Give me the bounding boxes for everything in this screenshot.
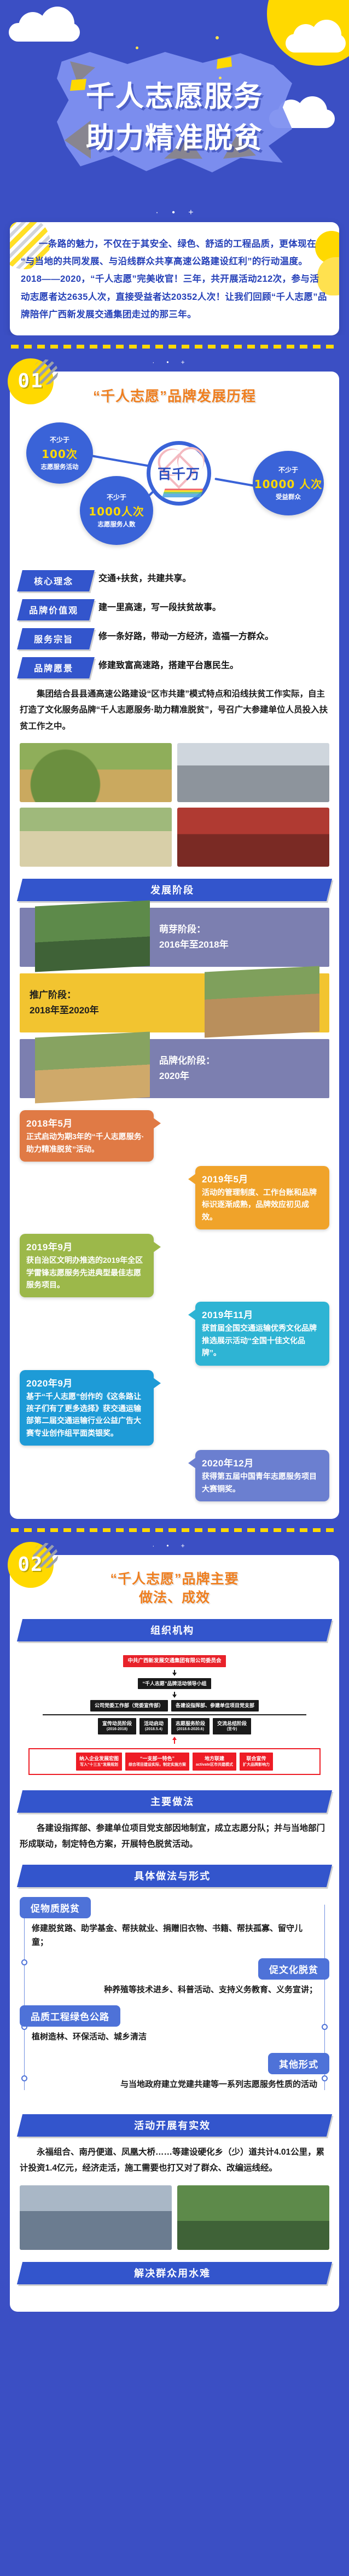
stage-sprout: 萌芽阶段： 2016年至2018年: [20, 908, 329, 967]
form-pill: 促物质脱贫: [20, 1897, 91, 1918]
org-node-branch-units: 各建设指挥部、参建单位项目党支部: [171, 1700, 259, 1711]
water-heading: 解决群众用水难: [20, 2262, 329, 2284]
timeline-desc: 获首届全国交通运输优秀文化品牌推选展示活动“全国十佳文化品牌”。: [202, 1322, 323, 1359]
dot-icon: [136, 47, 138, 49]
ribbon-text: 解决群众用水难: [134, 2266, 211, 2280]
ribbon-label: 品牌价值观: [17, 599, 95, 620]
section-01-number: 01: [8, 358, 54, 404]
stage-period: 2018年至2020年: [30, 1003, 99, 1018]
ribbon-label: 服务宗旨: [17, 628, 95, 649]
ribbon-label: 具体做法与形式: [17, 1865, 332, 1887]
org-row-phases: 宣传动员阶段 (2016-2018) 活动启动 (2018.5.4) 志愿服务阶…: [21, 1718, 328, 1734]
form-body: 种养殖等技术进乡、科普活动、支持义务教育、义务宣讲；: [20, 1983, 329, 1997]
timeline-desc: 正式启动为期3年的“千人志愿服务·助力精准脱贫”活动。: [26, 1130, 147, 1155]
bubble-prefix: 不少于: [50, 435, 69, 444]
mindmap-center-label: 百千万: [158, 463, 200, 483]
brand-row-values: 品牌价值观 建一里高速，写一段扶贫故事。: [20, 599, 329, 620]
intro-paragraph: 一条路的魅力，不仅在于其安全、绿色、舒适的工程品质，更体现在“与当地的共同发展、…: [21, 235, 328, 323]
timeline-item: 2020年9月 基于“千人志愿”创作的《这条路让孩子们有了更多选择》获交通运输部…: [20, 1370, 329, 1446]
results-heading: 活动开展有实效: [20, 2114, 329, 2137]
mindmap-bubble-beneficiaries: 不少于 10000 人次 受益群众: [253, 451, 324, 515]
mindmap-bubble-activities: 不少于 100次 志愿服务活动: [26, 422, 93, 484]
org-node-phase-mobilize: 宣传动员阶段 (2016-2018): [98, 1718, 136, 1734]
ribbon-value: 交通+扶贫，共建共享。: [98, 570, 329, 586]
forms-connector-list: 促物质脱贫 修建脱贫路、助学基金、帮扶就业、捐赠旧衣物、书籍、帮扶孤寡、留守儿童…: [20, 1895, 329, 2103]
stage-title: 推广阶段：: [30, 988, 99, 1003]
star-plus: +: [188, 208, 193, 218]
timeline-bubble-2019-05: 2019年5月 活动的管理制度、工作台账和品牌标识逐渐成熟，品牌效应初见成效。: [195, 1166, 329, 1229]
org-node-phase-service: 志愿服务阶段 (2018.6-2020.6): [171, 1718, 210, 1734]
timeline-desc: 活动的管理制度、工作台账和品牌标识逐渐成熟，品牌效应初见成效。: [202, 1186, 323, 1223]
org-row-top: 中共广西新发展交通集团有限公司委员会: [21, 1655, 328, 1667]
brand-row-vision: 品牌愿景 修建致富高速路，搭建平台惠民生。: [20, 657, 329, 678]
stages-heading: 发展阶段: [20, 879, 329, 901]
org-chart: 中共广西新发展交通集团有限公司委员会 “千人志愿”品牌活动领导小组 公司党委工作…: [20, 1648, 329, 1778]
stage-period: 2016年至2018年: [159, 937, 229, 953]
org-phase-name: 志愿服务阶段: [176, 1721, 205, 1726]
redbox-sub: 综合项目建设实际，制定实施方案: [129, 1762, 186, 1768]
brand-timeline: 2018年5月 正式启动为期3年的“千人志愿服务·助力精准脱贫”活动。 2019…: [20, 1110, 329, 1501]
ribbon-text: 品牌价值观: [29, 603, 78, 616]
page-bottom-spacer: [0, 2312, 349, 2319]
ribbon-label: 发展阶段: [17, 879, 332, 901]
cloud-icon: [9, 23, 80, 42]
timeline-date: 2018年5月: [26, 1116, 147, 1129]
mindmap-center-node: 百千万: [147, 441, 211, 506]
org-connector-arrow-red: [174, 1737, 175, 1744]
bubble-prefix: 不少于: [107, 492, 126, 502]
timeline-bubble-2020-12: 2020年12月 获得第五届中国青年志愿服务项目大赛铜奖。: [195, 1450, 329, 1501]
stage-title: 品牌化阶段：: [159, 1053, 215, 1069]
org-horizontal-bar: [43, 1714, 306, 1715]
dashed-road-divider: [0, 335, 349, 358]
org-connector-arrow: [174, 1670, 175, 1675]
dot-icon: [216, 36, 219, 39]
bubble-value: 10000 人次: [254, 475, 323, 491]
timeline-date: 2019年11月: [202, 1307, 323, 1321]
footer-spacer: [20, 2291, 329, 2299]
mindmap-bubble-volunteers: 不少于 1000人次 志愿服务人数: [80, 476, 153, 545]
timeline-date: 2020年9月: [26, 1376, 147, 1389]
section-02-number: 02: [8, 1542, 54, 1588]
stage-title: 萌芽阶段：: [159, 922, 229, 937]
org-phase-period: (2018.5.4): [144, 1727, 164, 1732]
form-item-other: 其他形式 与当地政府建立党建共建等一系列志愿服务性质的活动: [20, 2053, 329, 2092]
bubble-value: 1000人次: [89, 503, 144, 519]
main-practice-heading: 主要做法: [20, 1790, 329, 1813]
timeline-date: 2019年9月: [26, 1239, 147, 1253]
results-paragraph: 永福组合、南丹便道、凤凰大桥……等建设硬化乡（少）道共计4.01公里，累计投资1…: [20, 2144, 329, 2177]
redbox-sub: 扩大品牌影响力: [243, 1762, 270, 1768]
timeline-item: 2019年11月 获首届全国交通运输优秀文化品牌推选展示活动“全国十佳文化品牌”…: [20, 1302, 329, 1365]
hero-star-decor: · • +: [0, 208, 349, 218]
timeline-bubble-2019-11: 2019年11月 获首届全国交通运输优秀文化品牌推选展示活动“全国十佳文化品牌”…: [195, 1302, 329, 1365]
photo-grid: [20, 743, 329, 867]
star-dot-medium: •: [172, 208, 175, 218]
form-item-green-road: 品质工程绿色公路 植树造林、环保活动、城乡清洁: [20, 2005, 329, 2044]
org-redbox-enterprise-plan: 纳入企业发展宏图 写入“十三五”发展规划: [76, 1753, 122, 1770]
org-node-phase-launch: 活动启动 (2018.5.4): [139, 1718, 168, 1734]
hero-title-line1: 千人志愿服务: [0, 81, 349, 113]
org-phase-name: 活动启动: [144, 1721, 164, 1726]
brand-row-core-concept: 核心理念 交通+扶贫，共建共享。: [20, 570, 329, 591]
cloud-icon: [286, 34, 346, 53]
bubble-caption: 志愿服务活动: [41, 462, 79, 471]
redbox-title: 纳入企业发展宏图: [79, 1756, 119, 1761]
ribbon-label: 品牌愿景: [17, 657, 95, 678]
section-02: 02 “千人志愿”品牌主要 做法、成效 组织机构 中共广西新发展交通集团有限公司…: [10, 1555, 339, 2312]
bubble-prefix: 不少于: [278, 465, 298, 474]
section-01-paragraph: 集团结合县县通高速公路建设“区市共建”模式特点和沿线扶贫工作实际，自主打造了文化…: [20, 686, 329, 734]
photo-mountain-road: [177, 2185, 329, 2250]
ribbon-label: 组织机构: [17, 1619, 332, 1641]
timeline-bubble-2019-09: 2019年9月 获自治区文明办推选的2019年全区学雷锋志愿服务先进典型最佳志愿…: [20, 1234, 154, 1297]
section-02-card: “千人志愿”品牌主要 做法、成效 组织机构 中共广西新发展交通集团有限公司委员会…: [10, 1555, 339, 2312]
form-body: 植树造林、环保活动、城乡清洁: [20, 2030, 329, 2044]
org-redbox-branch-feature: “一支部一特色” 综合项目建设实际，制定实施方案: [125, 1753, 189, 1770]
org-node-publicity-dept: 公司党委工作部（党委宣传部）: [90, 1700, 168, 1711]
form-pill: 促文化脱贫: [258, 1958, 329, 1980]
ribbon-text: 发展阶段: [150, 883, 194, 897]
stage-promotion: 推广阶段： 2018年至2020年: [20, 973, 329, 1032]
ribbon-text: 具体做法与形式: [134, 1869, 211, 1883]
results-photo-grid: [20, 2185, 329, 2250]
ribbon-label: 活动开展有实效: [17, 2114, 332, 2137]
brand-mindmap: 不少于 100次 志愿服务活动 百千万 不少于 10000 人次 受益群众 不少…: [20, 415, 329, 562]
timeline-desc: 获得第五届中国青年志愿服务项目大赛铜奖。: [202, 1470, 323, 1495]
org-node-leading-group: “千人志愿”品牌活动领导小组: [138, 1678, 211, 1690]
bubble-caption: 志愿服务人数: [98, 520, 136, 529]
section-01-title: “千人志愿”品牌发展历程: [20, 387, 329, 406]
ribbon-label: 主要做法: [17, 1790, 332, 1813]
org-phase-period: (至今): [217, 1727, 247, 1732]
brand-row-purpose: 服务宗旨 修一条好路，带动一方经济，造福一方群众。: [20, 628, 329, 649]
org-redbox-local-joint: 地方联建 activate区市共建模式: [193, 1753, 236, 1770]
form-body: 与当地政府建立党建共建等一系列志愿服务性质的活动: [20, 2078, 329, 2092]
ribbon-text: 核心理念: [34, 574, 73, 587]
stage-photo: [35, 901, 150, 972]
photo-road-construction: [20, 2185, 172, 2250]
stage-photo: [35, 1032, 150, 1104]
timeline-item: 2018年5月 正式启动为期3年的“千人志愿服务·助力精准脱贫”活动。: [20, 1110, 329, 1162]
org-redbox-joint-publicity: 联合宣传 扩大品牌影响力: [240, 1753, 273, 1770]
timeline-item: 2020年12月 获得第五届中国青年志愿服务项目大赛铜奖。: [20, 1450, 329, 1501]
stage-branding: 品牌化阶段： 2020年: [20, 1039, 329, 1098]
form-pill: 品质工程绿色公路: [20, 2005, 120, 2027]
org-phase-period: (2018.6-2020.6): [176, 1727, 205, 1732]
ribbon-label: 解决群众用水难: [17, 2262, 332, 2284]
intro-section: 一条路的魅力，不仅在于其安全、绿色、舒适的工程品质，更体现在“与当地的共同发展、…: [0, 222, 349, 335]
ribbon-label: 核心理念: [17, 570, 95, 591]
rainbow-road-icon: [162, 489, 203, 497]
org-red-initiatives: 纳入企业发展宏图 写入“十三五”发展规划 “一支部一特色” 综合项目建设实际，制…: [28, 1748, 321, 1774]
intro-card: 一条路的魅力，不仅在于其安全、绿色、舒适的工程品质，更体现在“与当地的共同发展、…: [10, 222, 339, 335]
timeline-bubble-2018-05: 2018年5月 正式启动为期3年的“千人志愿服务·助力精准脱贫”活动。: [20, 1110, 154, 1162]
mindmap-connector: [214, 478, 258, 488]
ribbon-value: 修一条好路，带动一方经济，造福一方群众。: [98, 628, 329, 644]
org-phase-period: (2016-2018): [102, 1727, 132, 1732]
org-phase-name: 交流总结阶段: [217, 1721, 247, 1726]
ribbon-text: 品牌愿景: [34, 661, 73, 674]
stage-text: 萌芽阶段： 2016年至2018年: [159, 922, 229, 953]
infographic-page: 千人志愿服务 助力精准脱贫 · • + 一条路的魅力，不仅在于其安全、绿色、舒适…: [0, 0, 349, 2319]
form-body: 修建脱贫路、助学基金、帮扶就业、捐赠旧衣物、书籍、帮扶孤寡、留守儿童；: [20, 1922, 329, 1950]
timeline-desc: 获自治区文明办推选的2019年全区学雷锋志愿服务先进典型最佳志愿服务项目。: [26, 1254, 147, 1291]
org-phase-name: 宣传动员阶段: [102, 1721, 132, 1726]
org-row-leadgroup: “千人志愿”品牌活动领导小组: [21, 1678, 328, 1690]
ribbon-text: 主要做法: [150, 1794, 194, 1808]
org-row-departments: 公司党委工作部（党委宣传部） 各建设指挥部、参建单位项目党支部: [21, 1700, 328, 1711]
photo-volunteers-field: [20, 743, 172, 802]
hero-banner: 千人志愿服务 助力精准脱贫 · • +: [0, 0, 349, 230]
org-node-party-committee: 中共广西新发展交通集团有限公司委员会: [123, 1655, 225, 1667]
section-01-card: “千人志愿”品牌发展历程 不少于 100次 志愿服务活动 百千万 不少于: [10, 372, 339, 1519]
stage-text: 品牌化阶段： 2020年: [159, 1053, 215, 1084]
ribbon-value: 修建致富高速路，搭建平台惠民生。: [98, 657, 329, 673]
dot-icon: [219, 77, 222, 79]
photo-mountain-village: [20, 808, 172, 867]
form-pill: 其他形式: [268, 2053, 329, 2074]
redbox-title: “一支部一特色”: [140, 1756, 174, 1761]
redbox-title: 地方联建: [205, 1756, 224, 1761]
section-02-title-line1: “千人志愿”品牌主要: [20, 1570, 329, 1589]
stage-period: 2020年: [159, 1069, 215, 1084]
section-02-title: “千人志愿”品牌主要 做法、成效: [20, 1570, 329, 1608]
timeline-item: 2019年5月 活动的管理制度、工作台账和品牌标识逐渐成熟，品牌效应初见成效。: [20, 1166, 329, 1229]
timeline-item: 2019年9月 获自治区文明办推选的2019年全区学雷锋志愿服务先进典型最佳志愿…: [20, 1234, 329, 1297]
bubble-caption: 受益群众: [276, 492, 301, 501]
forms-heading: 具体做法与形式: [20, 1865, 329, 1887]
timeline-date: 2020年12月: [202, 1455, 323, 1469]
form-item-culture: 促文化脱贫 种养殖等技术进乡、科普活动、支持义务教育、义务宣讲；: [20, 1958, 329, 1997]
timeline-date: 2019年5月: [202, 1171, 323, 1185]
stage-text: 推广阶段： 2018年至2020年: [30, 988, 99, 1018]
org-heading: 组织机构: [20, 1619, 329, 1641]
redbox-sub: 写入“十三五”发展规划: [79, 1762, 119, 1768]
ribbon-text: 活动开展有实效: [134, 2118, 211, 2132]
section-02-title-line2: 做法、成效: [20, 1589, 329, 1608]
org-node-phase-summary: 交流总结阶段 (至今): [213, 1718, 251, 1734]
photo-red-banner-team: [177, 808, 329, 867]
photo-group-ceremony: [177, 743, 329, 802]
ribbon-value: 建一里高速，写一段扶贫故事。: [98, 599, 329, 615]
redbox-sub: activate区市共建模式: [196, 1762, 233, 1768]
mindmap-connector: [89, 454, 150, 467]
bubble-value: 100次: [42, 445, 78, 461]
ribbon-text: 服务宗旨: [34, 632, 73, 645]
section-01: 01 “千人志愿”品牌发展历程 不少于 100次 志愿服务活动 百千万: [10, 372, 339, 1519]
main-practice-paragraph: 各建设指挥部、参建单位项目党支部因地制宜，成立志愿分队；并与当地部门形成联动，制…: [20, 1820, 329, 1853]
stage-photo: [205, 966, 319, 1038]
timeline-bubble-2020-09: 2020年9月 基于“千人志愿”创作的《这条路让孩子们有了更多选择》获交通运输部…: [20, 1370, 154, 1446]
star-dot-small: ·: [155, 208, 158, 218]
dashed-road-divider: [0, 1519, 349, 1542]
timeline-desc: 基于“千人志愿”创作的《这条路让孩子们有了更多选择》获交通运输部第二届交通运输行…: [26, 1390, 147, 1440]
org-connector-arrow: [174, 1692, 175, 1697]
form-item-material: 促物质脱贫 修建脱贫路、助学基金、帮扶就业、捐赠旧衣物、书籍、帮扶孤寡、留守儿童…: [20, 1897, 329, 1950]
ribbon-text: 组织机构: [150, 1623, 194, 1637]
redbox-title: 联合宣传: [247, 1756, 266, 1761]
hero-title-line2: 助力精准脱贫: [0, 123, 349, 155]
